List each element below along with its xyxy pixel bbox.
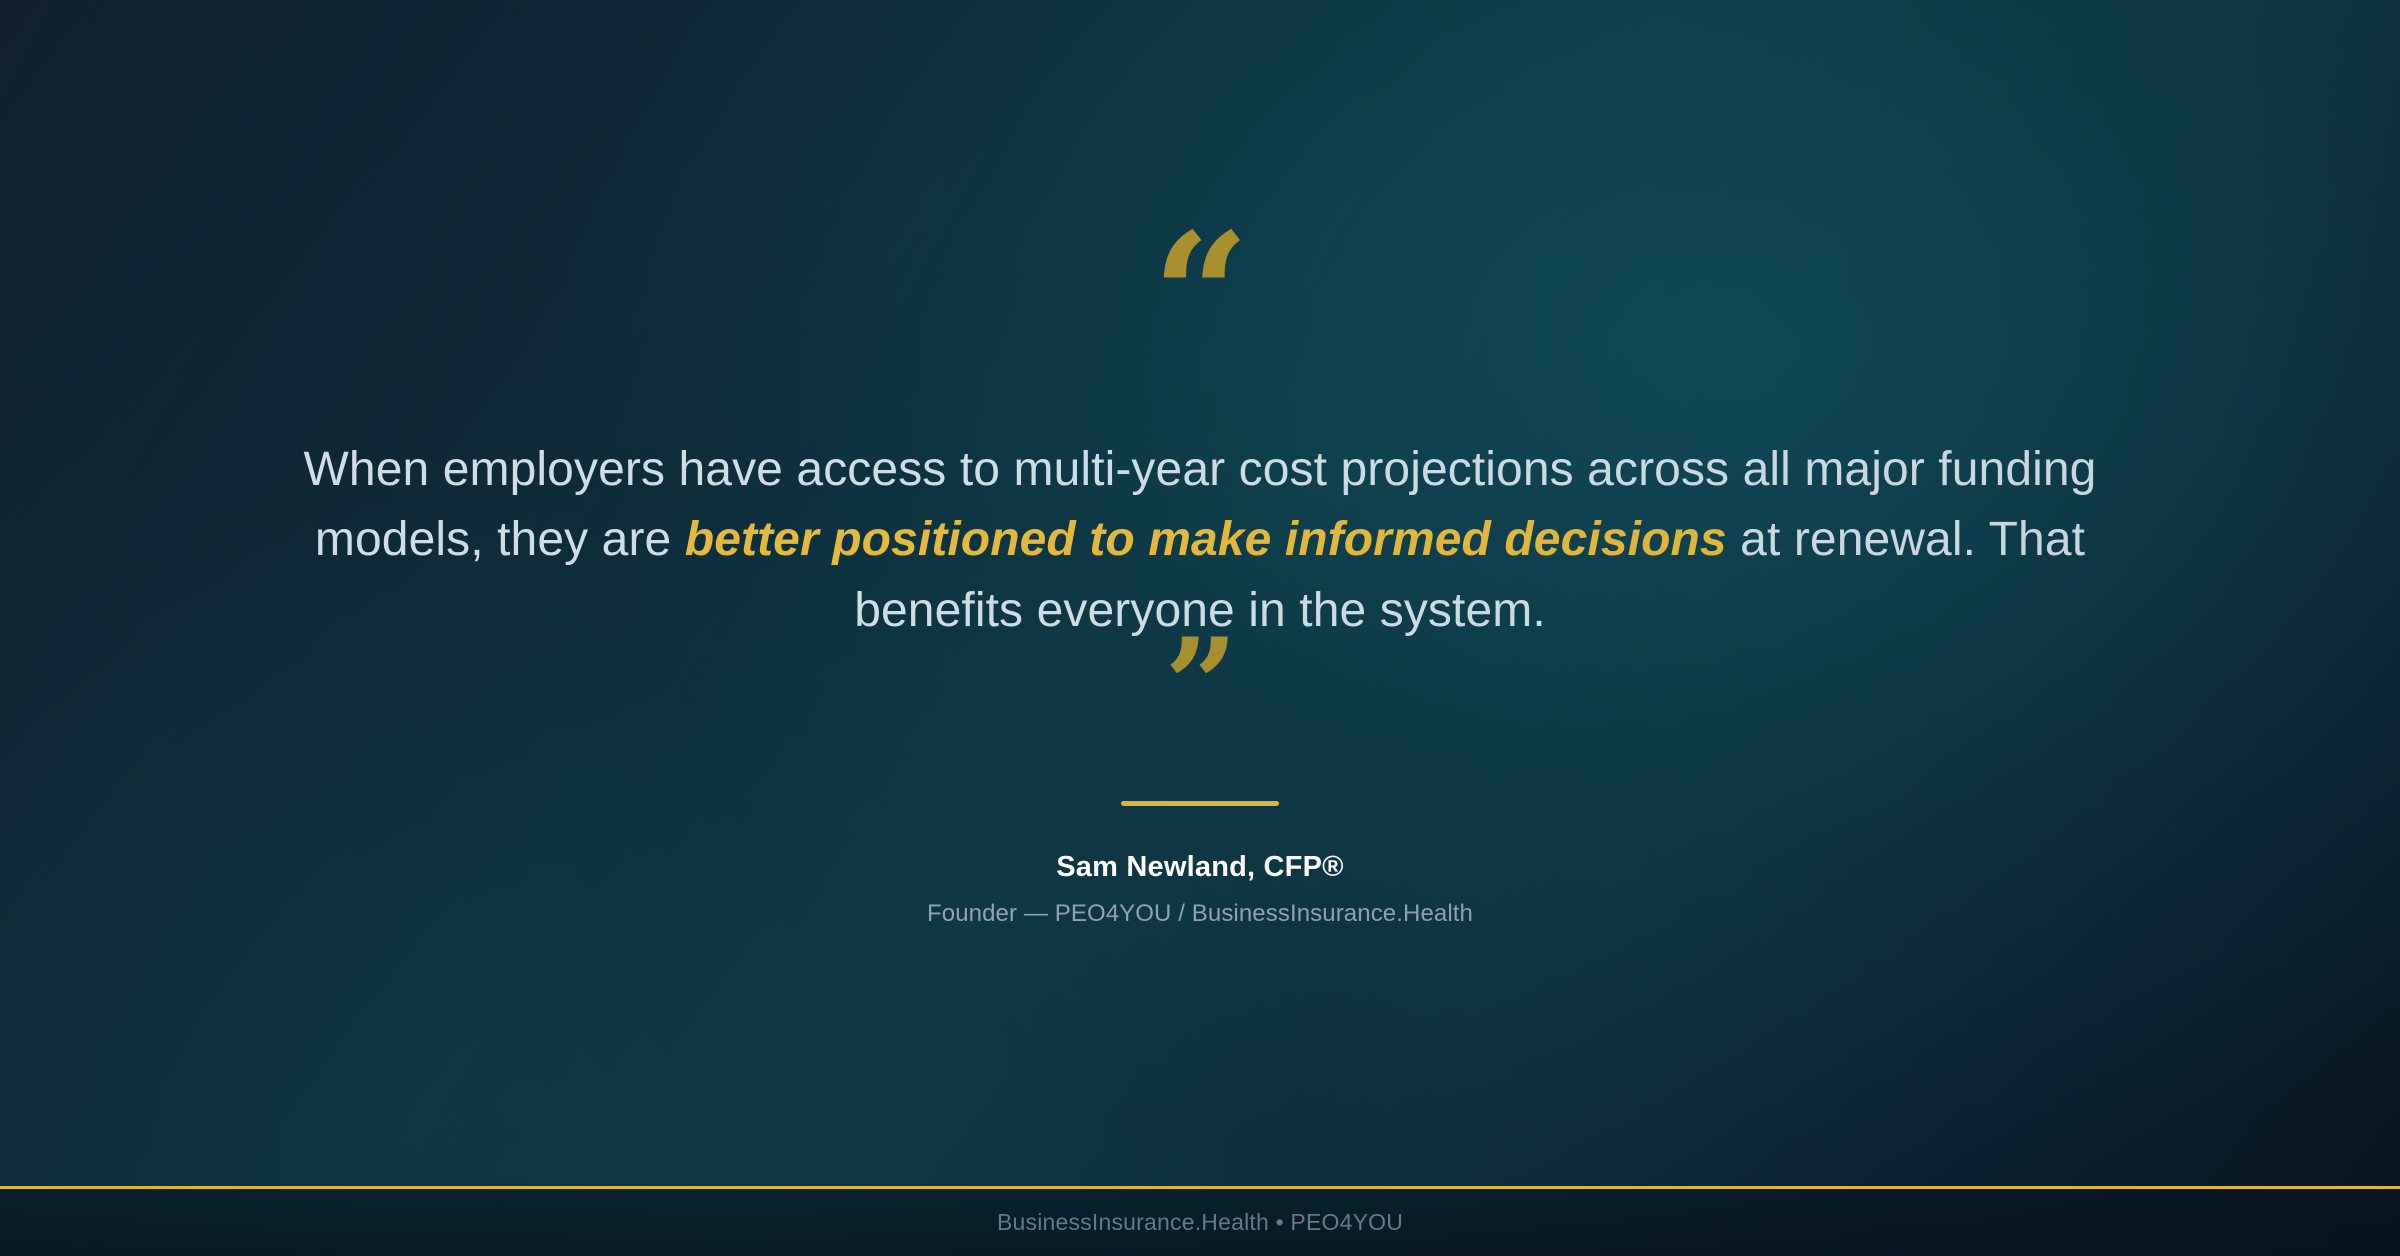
attribution-role: Founder — PEO4YOU / BusinessInsurance.He… [927,900,1473,928]
open-quote-mark-icon: “ [1152,244,1248,349]
attribution-name: Sam Newland, CFP® [1056,851,1343,884]
gold-divider [1121,801,1279,806]
quote-text-highlight: better positioned to make informed decis… [685,513,1727,566]
footer-brand-text: BusinessInsurance.Health • PEO4YOU [997,1209,1403,1236]
slide-footer: BusinessInsurance.Health • PEO4YOU [0,1186,2400,1256]
quote-stage: “ When employers have access to multi-ye… [0,0,2400,1186]
close-quote-mark-icon: ” [1164,642,1236,732]
quote-slide: “ When employers have access to multi-ye… [0,0,2400,1256]
